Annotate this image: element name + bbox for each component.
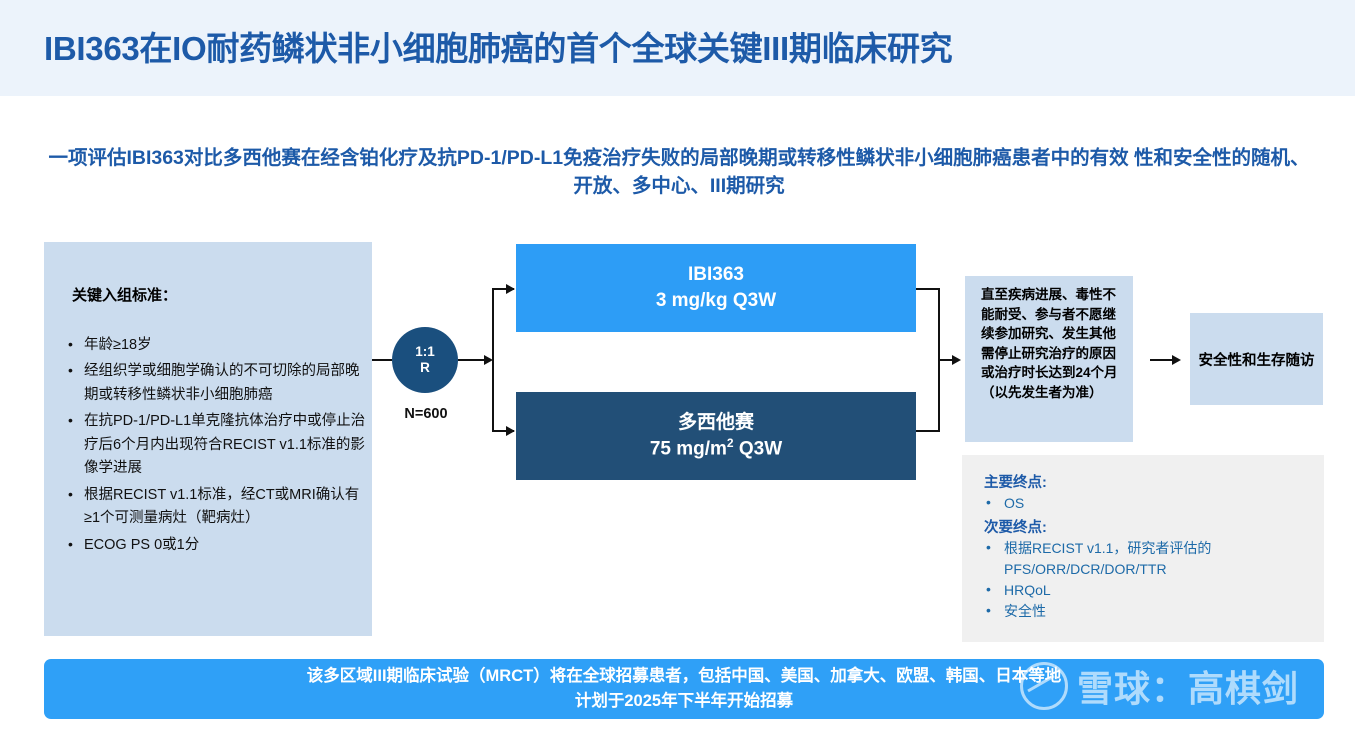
page-title: IBI363在IO耐药鳞状非小细胞肺癌的首个全球关键III期临床研究 bbox=[44, 22, 952, 70]
slide-root: IBI363在IO耐药鳞状非小细胞肺癌的首个全球关键III期临床研究 一项评估I… bbox=[0, 0, 1355, 730]
list-item: •在抗PD-1/PD-L1单克隆抗体治疗中或停止治疗后6个月内出现符合RECIS… bbox=[56, 410, 368, 480]
arm-dose: 75 mg/m2 Q3W bbox=[650, 435, 782, 462]
endpoint-text: HRQoL bbox=[1004, 582, 1051, 598]
inclusion-criteria-box: 关键入组标准： •年龄≥18岁 •经组织学或细胞学确认的不可切除的局部晚期或转移… bbox=[44, 242, 372, 636]
criteria-item-text: 经组织学或细胞学确认的不可切除的局部晚期或转移性鳞状非小细胞肺癌 bbox=[84, 363, 360, 402]
banner-line-2: 计划于2025年下半年开始招募 bbox=[307, 689, 1061, 714]
criteria-item-text: 在抗PD-1/PD-L1单克隆抗体治疗中或停止治疗后6个月内出现符合RECIST… bbox=[84, 413, 365, 476]
criteria-item-text: 年龄≥18岁 bbox=[84, 337, 152, 353]
endpoint-subtext: PFS/ORR/DCR/DOR/TTR bbox=[1004, 559, 1324, 580]
list-item: •根据RECIST v1.1标准，经CT或MRI确认有≥1个可测量病灶（靶病灶） bbox=[56, 484, 368, 531]
sample-size-label: N=600 bbox=[388, 406, 464, 422]
bullet-icon: • bbox=[68, 533, 73, 556]
banner-text: 该多区域III期临床试验（MRCT）将在全球招募患者，包括中国、美国、加拿大、欧… bbox=[307, 664, 1061, 714]
randomization-letter: R bbox=[420, 360, 430, 376]
bullet-icon: • bbox=[986, 492, 991, 513]
bullet-icon: • bbox=[68, 359, 73, 382]
banner-line-1: 该多区域III期临床试验（MRCT）将在全球招募患者，包括中国、美国、加拿大、欧… bbox=[307, 664, 1061, 689]
arm-dose-text: 75 mg/m bbox=[650, 439, 727, 460]
arrow-head-icon bbox=[1172, 355, 1181, 365]
recruitment-banner: 该多区域III期临床试验（MRCT）将在全球招募患者，包括中国、美国、加拿大、欧… bbox=[44, 659, 1324, 719]
secondary-endpoint-heading: 次要终点: bbox=[984, 516, 1324, 537]
criteria-item-text: ECOG PS 0或1分 bbox=[84, 537, 199, 553]
list-item: •OS bbox=[984, 493, 1324, 514]
arm-dose-text: 3 mg/kg Q3W bbox=[656, 290, 776, 311]
merge-bracket-top-arm bbox=[916, 288, 940, 290]
endpoint-text: OS bbox=[1004, 495, 1024, 511]
arm-drug-name: 多西他赛 bbox=[678, 410, 754, 436]
criteria-list: •年龄≥18岁 •经组织学或细胞学确认的不可切除的局部晚期或转移性鳞状非小细胞肺… bbox=[56, 334, 368, 560]
header-band: IBI363在IO耐药鳞状非小细胞肺癌的首个全球关键III期临床研究 bbox=[0, 0, 1355, 96]
treatment-discontinuation-box: 直至疾病进展、毒性不能耐受、参与者不愿继续参加研究、发生其他需停止研究治疗的原因… bbox=[965, 276, 1133, 442]
criteria-title: 关键入组标准： bbox=[72, 284, 177, 305]
list-item: •安全性 bbox=[984, 601, 1324, 622]
treatment-arm-control: 多西他赛 75 mg/m2 Q3W bbox=[516, 392, 916, 480]
arm-dose-suffix: Q3W bbox=[734, 439, 783, 460]
list-item: •经组织学或细胞学确认的不可切除的局部晚期或转移性鳞状非小细胞肺癌 bbox=[56, 360, 368, 407]
arm-drug-name: IBI363 bbox=[688, 262, 744, 288]
safety-survival-followup-box: 安全性和生存随访 bbox=[1190, 313, 1323, 405]
bullet-icon: • bbox=[68, 409, 73, 432]
merge-bracket-bottom-arm bbox=[916, 430, 940, 432]
list-item: •根据RECIST v1.1，研究者评估的PFS/ORR/DCR/DOR/TTR bbox=[984, 538, 1324, 580]
bullet-icon: • bbox=[68, 483, 73, 506]
criteria-item-text: 根据RECIST v1.1标准，经CT或MRI确认有≥1个可测量病灶（靶病灶） bbox=[84, 487, 359, 526]
arrow-head-icon bbox=[506, 426, 515, 436]
arrow-head-icon bbox=[952, 355, 961, 365]
followup-text: 安全性和生存随访 bbox=[1199, 349, 1315, 370]
list-item: •HRQoL bbox=[984, 580, 1324, 601]
bullet-icon: • bbox=[986, 537, 991, 558]
endpoint-text: 安全性 bbox=[1004, 603, 1046, 619]
bullet-icon: • bbox=[986, 600, 991, 621]
endpoints-box: 主要终点: •OS 次要终点: •根据RECIST v1.1，研究者评估的PFS… bbox=[962, 455, 1324, 642]
endpoint-text: 根据RECIST v1.1，研究者评估的 bbox=[1004, 540, 1211, 556]
arm-dose-superscript: 2 bbox=[727, 436, 734, 450]
bullet-icon: • bbox=[68, 333, 73, 356]
bullet-icon: • bbox=[986, 579, 991, 600]
arm-dose: 3 mg/kg Q3W bbox=[656, 288, 776, 314]
list-item: •年龄≥18岁 bbox=[56, 334, 368, 357]
secondary-endpoint-list: •根据RECIST v1.1，研究者评估的PFS/ORR/DCR/DOR/TTR… bbox=[962, 538, 1324, 622]
split-bracket-vertical bbox=[492, 288, 494, 430]
study-subtitle: 一项评估IBI363对比多西他赛在经含铂化疗及抗PD-1/PD-L1免疫治疗失败… bbox=[44, 144, 1314, 201]
connector-criteria-to-randomization bbox=[372, 359, 392, 361]
list-item: •ECOG PS 0或1分 bbox=[56, 534, 368, 557]
randomization-node: 1:1 R bbox=[392, 327, 458, 393]
primary-endpoint-list: •OS bbox=[962, 493, 1324, 514]
arrow-head-icon bbox=[506, 284, 515, 294]
discontinuation-text: 直至疾病进展、毒性不能耐受、参与者不愿继续参加研究、发生其他需停止研究治疗的原因… bbox=[981, 285, 1123, 402]
randomization-ratio: 1:1 bbox=[415, 344, 435, 360]
treatment-arm-experimental: IBI363 3 mg/kg Q3W bbox=[516, 244, 916, 332]
primary-endpoint-heading: 主要终点: bbox=[984, 471, 1324, 492]
subtitle-line-1: 一项评估IBI363对比多西他赛在经含铂化疗及抗PD-1/PD-L1免疫治疗失败… bbox=[48, 147, 1128, 169]
